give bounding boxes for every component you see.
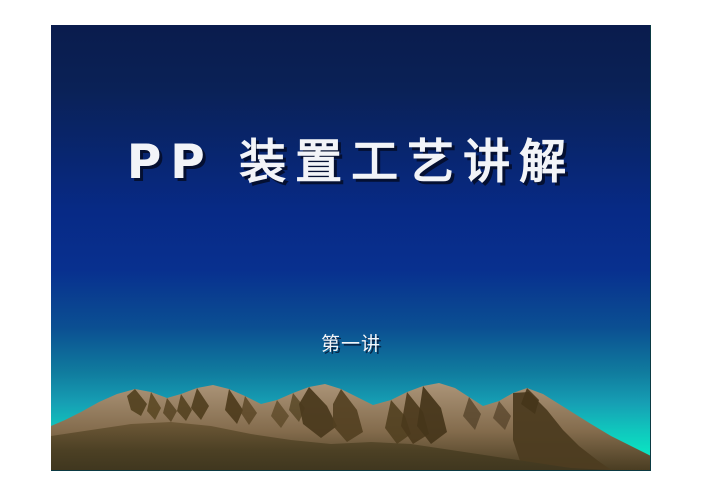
mountain-range-graphic [51, 380, 651, 470]
title-slide[interactable]: PP 装置工艺讲解 第一讲 [51, 25, 651, 471]
presentation-page: PP 装置工艺讲解 第一讲 [0, 0, 702, 496]
